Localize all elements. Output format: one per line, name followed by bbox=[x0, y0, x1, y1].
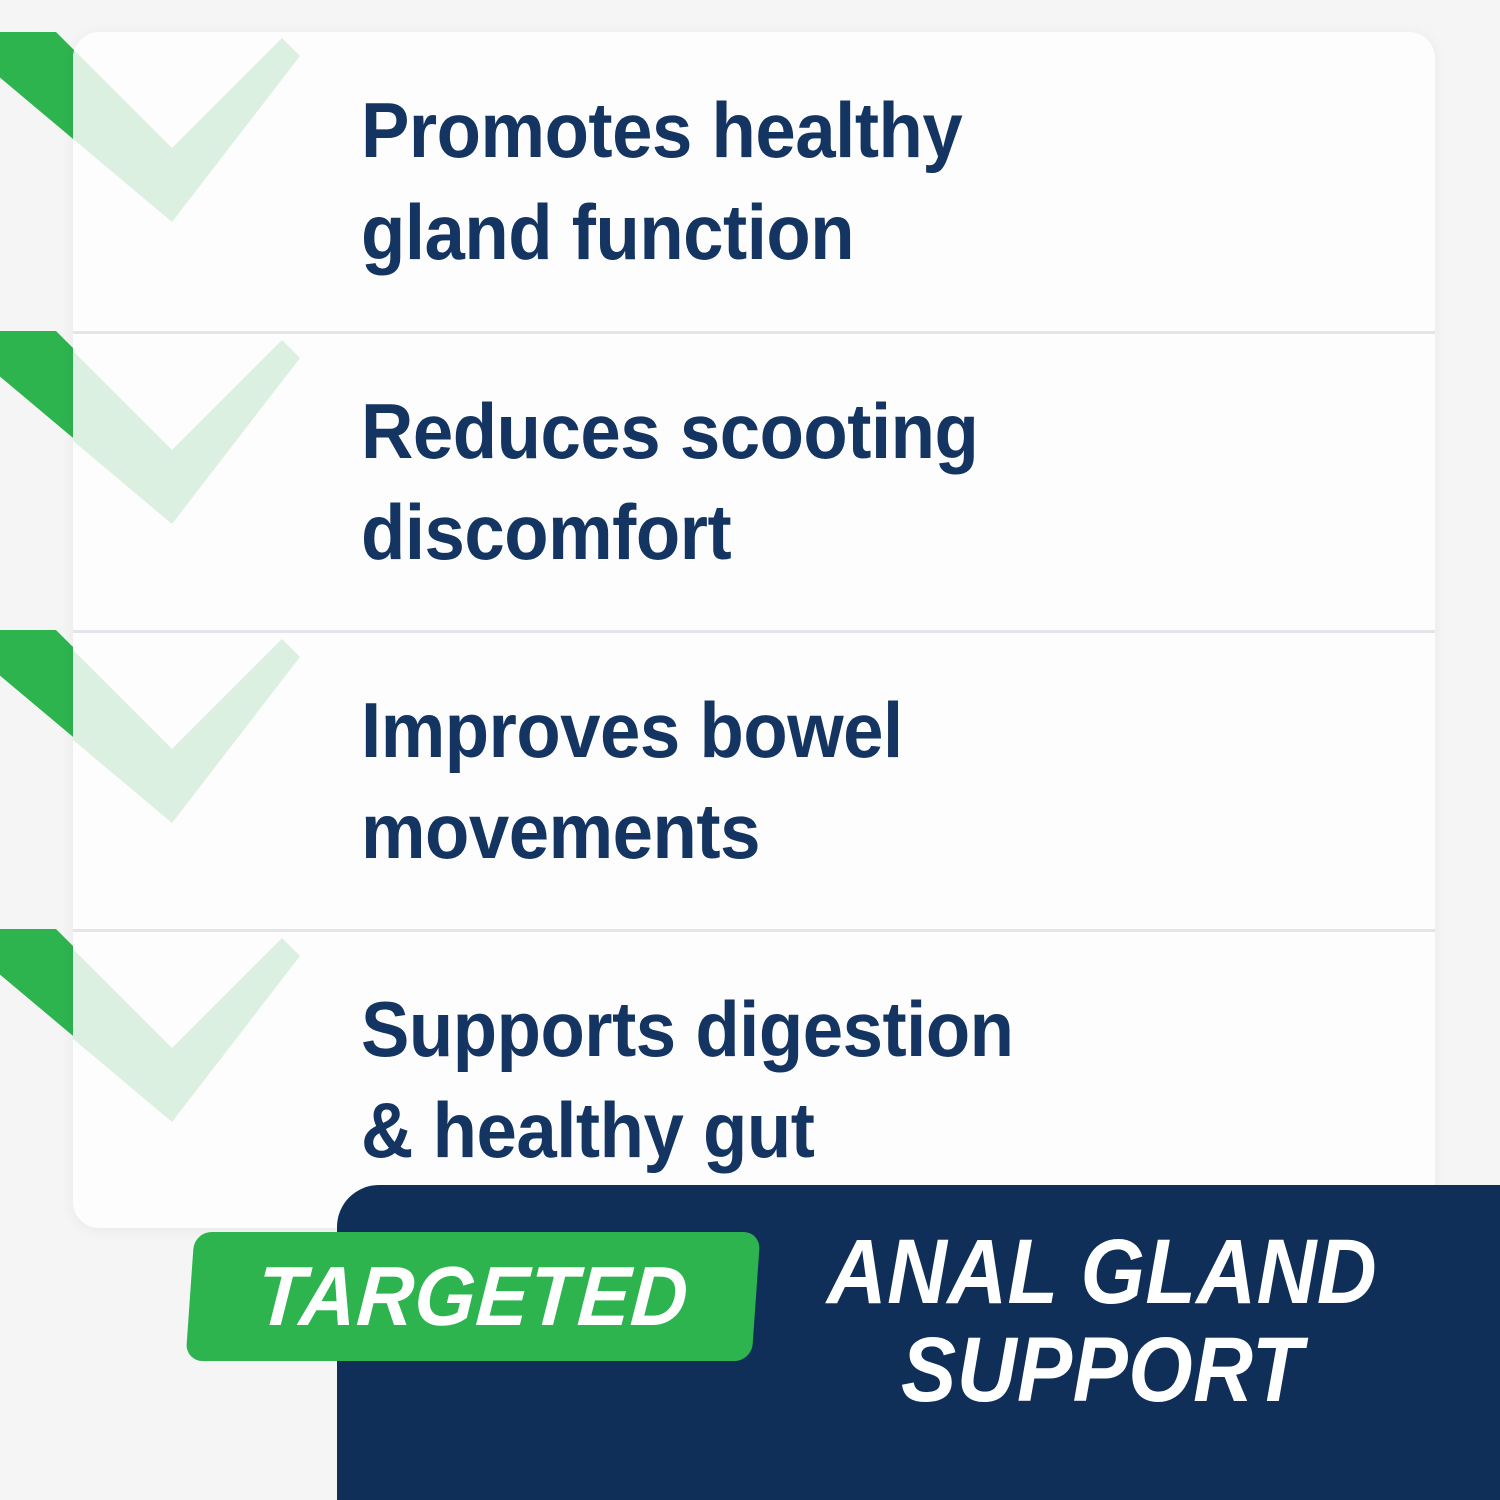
benefits-card: Promotes healthy gland function Reduces … bbox=[73, 32, 1435, 1228]
benefit-row: Reduces scooting discomfort bbox=[73, 331, 1435, 630]
product-benefits-infographic: Promotes healthy gland function Reduces … bbox=[0, 0, 1500, 1500]
check-icon bbox=[73, 334, 373, 633]
benefit-label: Improves bowel movements bbox=[361, 680, 1198, 883]
check-icon-outer-3 bbox=[0, 630, 74, 930]
check-icon-outer-4 bbox=[0, 929, 74, 1229]
benefit-row: Promotes healthy gland function bbox=[73, 32, 1435, 331]
benefit-row: Supports digestion & healthy gut bbox=[73, 929, 1435, 1228]
benefit-label: Reduces scooting discomfort bbox=[361, 381, 1198, 584]
benefit-row: Improves bowel movements bbox=[73, 630, 1435, 929]
targeted-badge-label: TARGETED bbox=[205, 1232, 740, 1361]
benefit-label: Promotes healthy gland function bbox=[361, 80, 1198, 283]
check-icon bbox=[73, 32, 373, 331]
check-icon-outer-1 bbox=[0, 32, 74, 332]
benefit-label: Supports digestion & healthy gut bbox=[361, 979, 1198, 1182]
check-icon-outer-2 bbox=[0, 331, 74, 631]
banner-headline: ANAL GLAND SUPPORT bbox=[805, 1223, 1399, 1420]
check-icon bbox=[73, 932, 373, 1228]
check-icon bbox=[73, 633, 373, 932]
targeted-badge: TARGETED bbox=[185, 1232, 760, 1361]
